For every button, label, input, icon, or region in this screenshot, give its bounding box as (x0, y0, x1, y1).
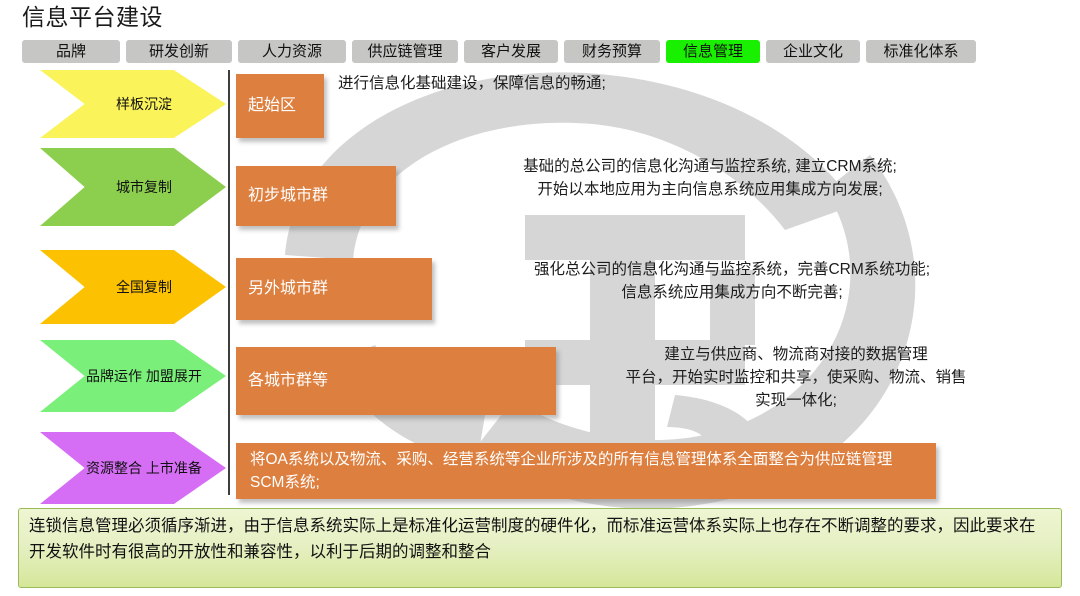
phase-chevron-3-label: 全国复制 (94, 278, 172, 297)
phase-chevron-4[interactable]: 品牌运作 加盟展开 (40, 340, 226, 412)
stage-box-5[interactable]: 将OA系统以及物流、采购、经营系统等企业所涉及的所有信息管理体系全面整合为供应链… (236, 443, 936, 499)
phase-chevron-4-label: 品牌运作 加盟展开 (64, 367, 202, 386)
tab-customer-development[interactable]: 客户发展 (464, 40, 558, 63)
phase-chevron-1[interactable]: 样板沉淀 (40, 70, 226, 138)
tab-corporate-culture[interactable]: 企业文化 (766, 40, 860, 63)
phase-chevron-2-label: 城市复制 (94, 178, 172, 197)
phase-chevron-5[interactable]: 资源整合 上市准备 (40, 432, 226, 504)
stage-description-4: 建立与供应商、物流商对接的数据管理 平台，开始实时监控和共享，使采购、物流、销售… (556, 343, 1036, 412)
stage-box-3-label: 另外城市群 (236, 278, 328, 300)
slide-canvas: 信息平台建设 品牌 研发创新 人力资源 供应链管理 客户发展 财务预算 信息管理… (0, 0, 1080, 596)
phase-chevron-3[interactable]: 全国复制 (40, 250, 226, 324)
page-title: 信息平台建设 (22, 2, 163, 32)
phase-chevron-1-label: 样板沉淀 (94, 95, 172, 114)
stage-box-1-label: 起始区 (236, 95, 296, 117)
stage-description-3: 强化总公司的信息化沟通与监控系统，完善CRM系统功能; 信息系统应用集成方向不断… (442, 258, 1022, 304)
tab-information-management[interactable]: 信息管理 (666, 40, 760, 63)
stage-box-3[interactable]: 另外城市群 (236, 258, 432, 320)
stage-box-5-label: 将OA系统以及物流、采购、经营系统等企业所涉及的所有信息管理体系全面整合为供应链… (236, 448, 936, 494)
tab-human-resources[interactable]: 人力资源 (238, 40, 346, 63)
phase-chevron-2[interactable]: 城市复制 (40, 148, 226, 226)
timeline-spine (228, 70, 230, 495)
stage-box-2[interactable]: 初步城市群 (236, 166, 396, 226)
tab-standardization-system[interactable]: 标准化体系 (866, 40, 976, 63)
stage-box-1[interactable]: 起始区 (236, 74, 324, 138)
stage-box-2-label: 初步城市群 (236, 185, 328, 207)
tab-finance-budget[interactable]: 财务预算 (564, 40, 660, 63)
phase-chevron-5-label: 资源整合 上市准备 (64, 455, 202, 481)
stage-description-1: 进行信息化基础建设，保障信息的畅通; (338, 72, 978, 95)
summary-box: 连锁信息管理必须循序渐进，由于信息系统实际上是标准化运营制度的硬件化，而标准运营… (18, 508, 1062, 588)
category-tab-bar: 品牌 研发创新 人力资源 供应链管理 客户发展 财务预算 信息管理 企业文化 标… (22, 40, 976, 63)
tab-rnd-innovation[interactable]: 研发创新 (126, 40, 232, 63)
stage-description-2: 基础的总公司的信息化沟通与监控系统, 建立CRM系统; 开始以本地应用为主向信息… (400, 155, 1020, 201)
tab-supply-chain[interactable]: 供应链管理 (352, 40, 458, 63)
stage-box-4-label: 各城市群等 (236, 370, 328, 392)
tab-brand[interactable]: 品牌 (22, 40, 120, 63)
stage-box-4[interactable]: 各城市群等 (236, 347, 556, 415)
